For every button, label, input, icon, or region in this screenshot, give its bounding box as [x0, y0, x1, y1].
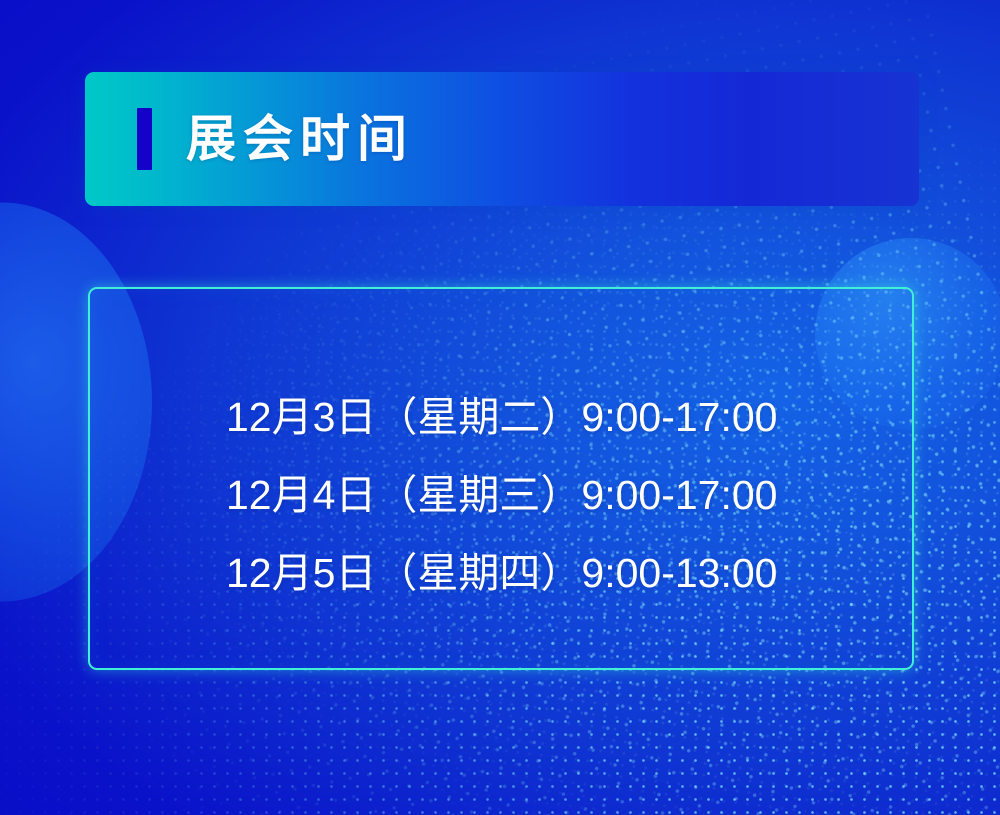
- schedule-list: 12月3日（星期二）9:00-17:00 12月4日（星期三）9:00-17:0…: [226, 378, 786, 612]
- title-accent-bar: [137, 108, 152, 170]
- schedule-row: 12月4日（星期三）9:00-17:00: [226, 456, 786, 534]
- page-title: 展会时间: [186, 114, 414, 164]
- schedule-row: 12月5日（星期四）9:00-13:00: [226, 534, 786, 612]
- header-banner: 展会时间: [85, 72, 919, 206]
- schedule-row: 12月3日（星期二）9:00-17:00: [226, 378, 786, 456]
- poster-canvas: 展会时间 12月3日（星期二）9:00-17:00 12月4日（星期三）9:00…: [0, 0, 1000, 815]
